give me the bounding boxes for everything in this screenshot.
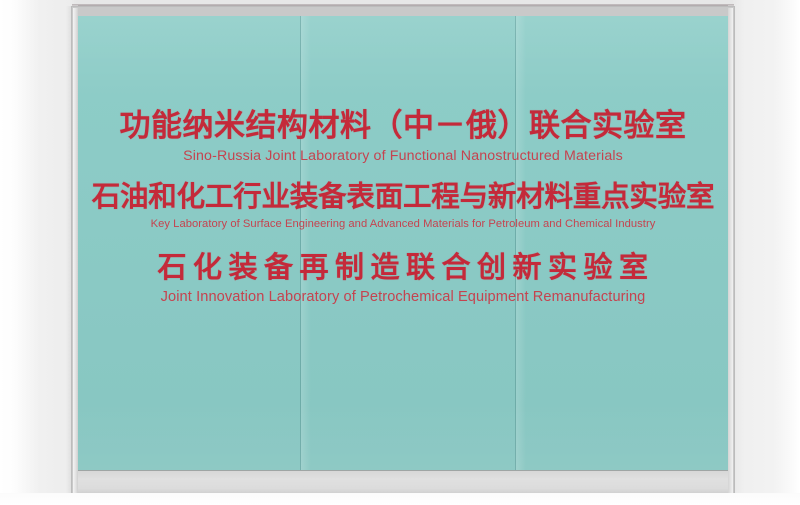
signage-base-band — [78, 470, 728, 494]
lab-title-english-1: Sino-Russia Joint Laboratory of Function… — [78, 149, 728, 163]
lab-title-group-3: 石化装备再制造联合创新实验室 Joint Innovation Laborato… — [78, 253, 728, 305]
lab-title-group-1: 功能纳米结构材料（中－俄）联合实验室 Sino-Russia Joint Lab… — [78, 111, 728, 163]
panel-right-trim — [728, 8, 733, 493]
lab-title-chinese-3: 石化装备再制造联合创新实验室 — [78, 253, 728, 282]
lab-title-chinese-2: 石油和化工行业装备表面工程与新材料重点实验室 — [78, 183, 728, 212]
floor-strip — [0, 493, 800, 505]
lab-title-english-2: Key Laboratory of Surface Engineering an… — [78, 219, 728, 230]
signage-scene: 功能纳米结构材料（中－俄）联合实验室 Sino-Russia Joint Lab… — [0, 0, 800, 505]
wall-right-surface — [733, 0, 800, 505]
signage-text-block: 功能纳米结构材料（中－俄）联合实验室 Sino-Russia Joint Lab… — [78, 16, 728, 470]
lab-title-chinese-1: 功能纳米结构材料（中－俄）联合实验室 — [78, 111, 728, 142]
lab-title-english-3: Joint Innovation Laboratory of Petrochem… — [78, 290, 728, 305]
panel-top-hairline — [78, 5, 728, 6]
lab-title-group-2: 石油和化工行业装备表面工程与新材料重点实验室 Key Laboratory of… — [78, 183, 728, 230]
